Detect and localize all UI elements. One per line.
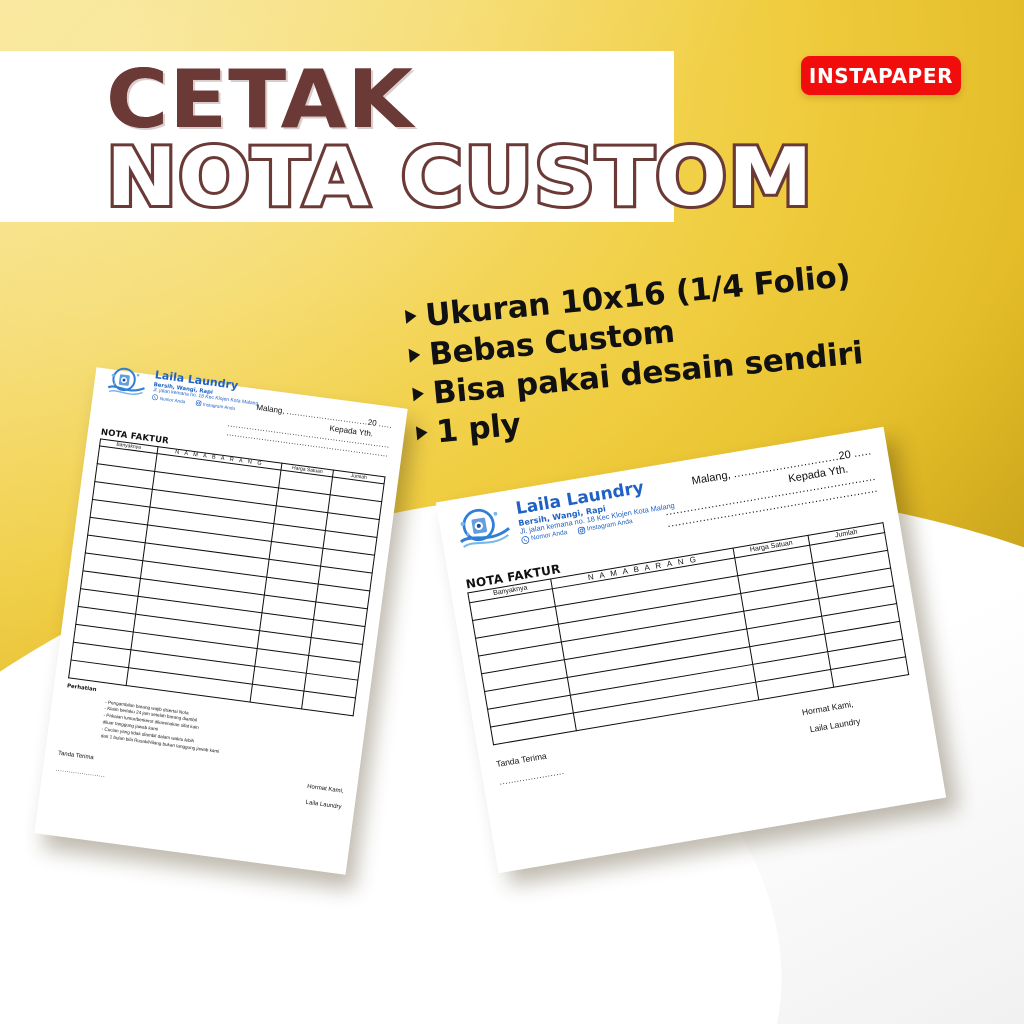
year-dots: ..... [853, 445, 873, 460]
washing-machine-water-swirl-icon [105, 363, 150, 407]
receipt-tanda-terima: Tanda Terima [495, 751, 547, 769]
feature-item-label: 1 ply [435, 407, 522, 451]
year-dots: ..... [378, 419, 393, 430]
receipt-year: 20 [838, 449, 852, 463]
receipt-items-table: Banyaknya N A M A B A R A N G Harga Satu… [68, 438, 385, 716]
receipt-portrait-mockup: Malang, ..............................20… [34, 367, 407, 874]
instagram-icon [577, 526, 586, 535]
triangle-bullet-icon [409, 348, 421, 363]
receipt-brand-text: Laila Laundry Bersih, Wangi, Rapi Jl. ja… [514, 473, 676, 545]
receipt-landscape-mockup: Malang, ..............................20… [436, 427, 946, 873]
receipt-table-body-portrait [69, 446, 384, 716]
receipt-sign-dots: ....................... [498, 766, 565, 787]
triangle-bullet-icon [405, 309, 417, 324]
washing-machine-water-swirl-icon [453, 500, 517, 560]
headline-line-1: CETAK [106, 63, 736, 137]
receipt-hormat-kami: Hormat Kami, [307, 784, 344, 795]
whatsapp-icon [521, 536, 530, 545]
receipt-hormat-kami: Hormat Kami, [801, 699, 854, 718]
receipt-items-table: Banyaknya N A M A B A R A N G Harga Satu… [467, 522, 909, 745]
instapaper-badge-label: INSTAPAPER [809, 64, 953, 88]
headline-line-2: NOTA CUSTOM [106, 141, 736, 215]
instagram-icon [195, 400, 202, 407]
whatsapp-icon [152, 394, 159, 401]
receipt-year: 20 [367, 418, 377, 428]
instapaper-badge[interactable]: INSTAPAPER [801, 56, 961, 95]
poster-canvas: CETAK NOTA CUSTOM INSTAPAPER Ukuran 10x1… [0, 0, 1024, 1024]
receipt-sign-dots: ....................... [56, 766, 106, 779]
receipt-tanda-terima: Tanda Terima [58, 751, 94, 762]
triangle-bullet-icon [412, 387, 424, 402]
receipt-signature-name: Laila Laundry [809, 716, 861, 734]
triangle-bullet-icon [416, 425, 428, 440]
headline-block: CETAK NOTA CUSTOM [0, 46, 700, 232]
receipt-signature-name: Laila Laundry [305, 800, 342, 811]
